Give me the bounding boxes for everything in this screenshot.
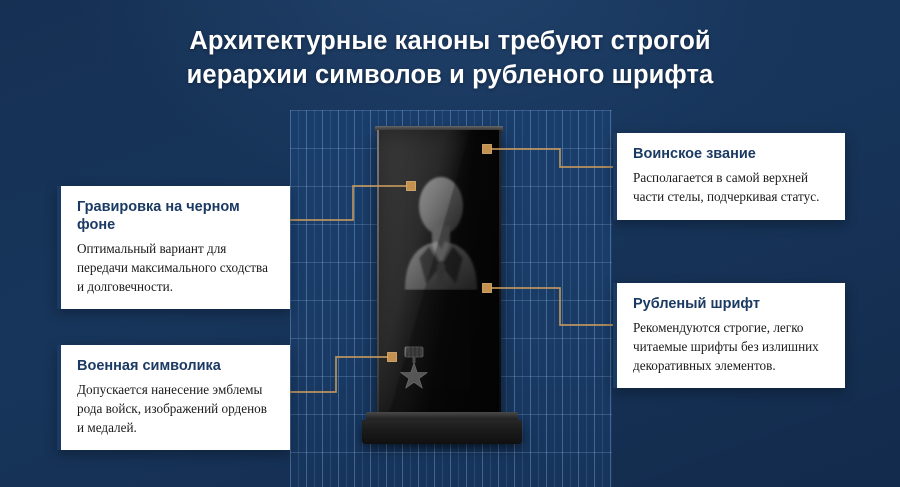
callout-engraving-body: Оптимальный вариант для передачи максима…	[77, 240, 276, 296]
pedestal-base	[362, 420, 522, 444]
callout-symbols-heading: Военная символика	[77, 357, 276, 375]
callout-rank-heading: Воинское звание	[633, 145, 831, 163]
callout-symbols-body: Допускается нанесение эмблемы рода войск…	[77, 381, 276, 437]
stele-right-edge	[499, 130, 501, 420]
stele-slab	[377, 130, 501, 420]
callout-rank-body: Располагается в самой верхней части стел…	[633, 169, 831, 206]
military-medal-icon	[399, 346, 429, 392]
stele-left-edge	[377, 130, 379, 420]
callout-rank[interactable]: Воинское звание Располагается в самой ве…	[613, 133, 845, 220]
callout-typeface-heading: Рубленый шрифт	[633, 295, 831, 313]
callout-typeface[interactable]: Рубленый шрифт Рекомендуются строгие, ле…	[613, 283, 845, 388]
callout-typeface-body: Рекомендуются строгие, легко читаемые шр…	[633, 319, 831, 375]
callout-engraving-heading: Гравировка на черном фоне	[77, 198, 276, 234]
engraved-portrait-icon	[399, 162, 483, 290]
infographic-canvas: Архитектурные каноны требуют строгой иер…	[0, 0, 900, 487]
callout-symbols[interactable]: Военная символика Допускается нанесение …	[57, 345, 290, 450]
callout-engraving[interactable]: Гравировка на черном фоне Оптимальный ва…	[57, 186, 290, 309]
